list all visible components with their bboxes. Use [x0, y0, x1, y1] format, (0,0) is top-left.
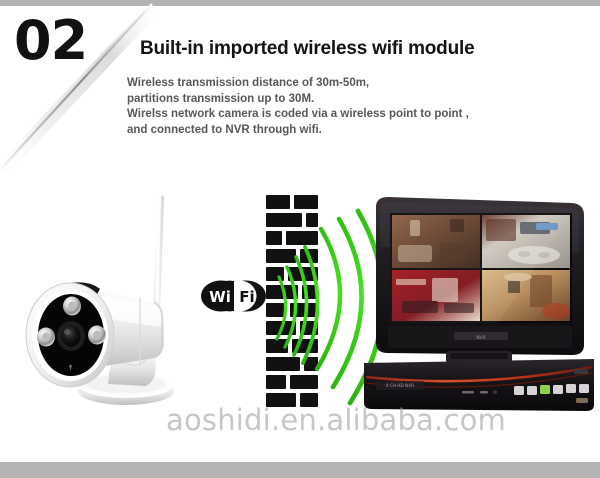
nvr-brand-plate: NVR: [476, 335, 485, 341]
description-line-4: and connected to NVR through wifi.: [127, 123, 567, 139]
nvr-brand-text: 4 CH HD NVR: [386, 383, 414, 388]
camera-front: [26, 283, 114, 387]
description-line-1: Wireless transmission distance of 30m-50…: [127, 76, 567, 92]
nvr-monitor: NVR: [376, 197, 584, 355]
wireless-camera-illustration: [8, 185, 198, 420]
bottom-rail: [0, 462, 600, 478]
svg-text:Wi: Wi: [209, 288, 231, 306]
nvr-base-unit: 4 CH HD NVR: [364, 359, 594, 411]
diagram-stage: Wi Fi: [0, 175, 600, 425]
description-block: Wireless transmission distance of 30m-50…: [127, 76, 567, 138]
description-line-2: partitions transmission up to 30M.: [127, 92, 567, 108]
page-title: Built-in imported wireless wifi module: [140, 38, 570, 60]
antenna-icon: [153, 195, 164, 313]
quad-view-screen: [390, 213, 572, 323]
description-line-3: Wirelss network camera is coded via a wi…: [127, 107, 567, 123]
slide-number: 02: [14, 14, 87, 68]
slide-canvas: 02 Built-in imported wireless wifi modul…: [0, 0, 600, 478]
svg-text:Fi: Fi: [239, 288, 254, 306]
nvr-recorder-illustration: NVR 4 CH HD NVR: [358, 193, 600, 425]
